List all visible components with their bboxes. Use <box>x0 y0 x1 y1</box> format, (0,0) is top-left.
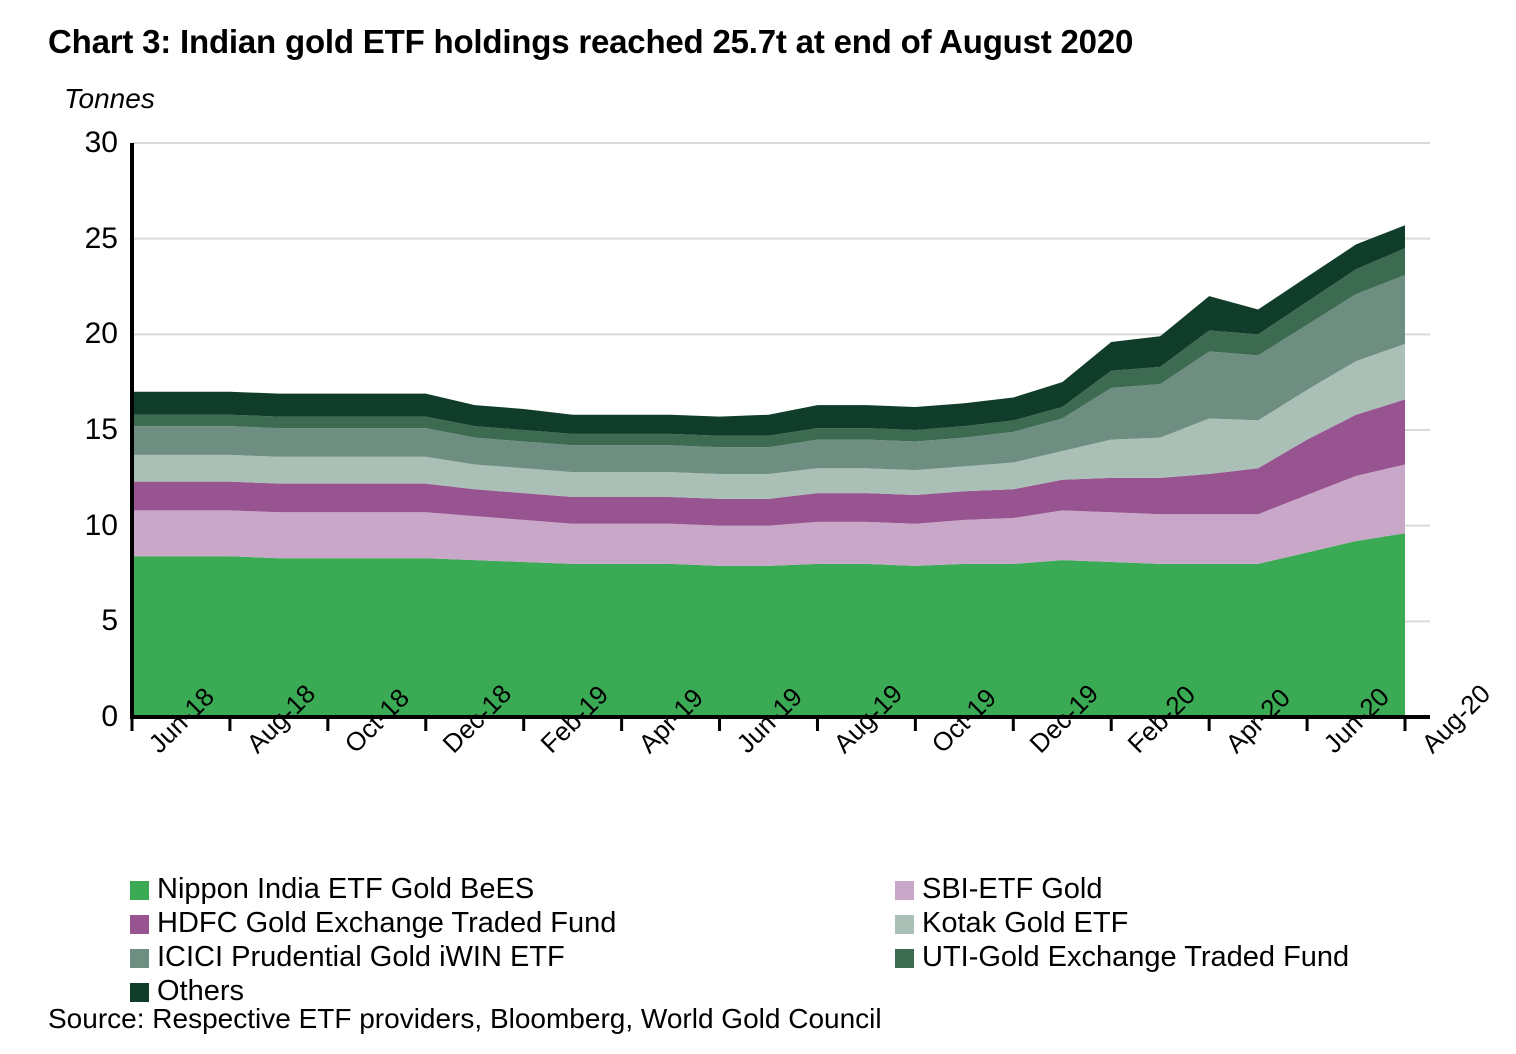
legend-item-label: UTI-Gold Exchange Traded Fund <box>922 942 1349 973</box>
legend-swatch-icon <box>130 949 149 968</box>
legend-item-label: Nippon India ETF Gold BeES <box>157 874 534 905</box>
chart-legend: Nippon India ETF Gold BeESSBI-ETF GoldHD… <box>130 872 1450 1008</box>
legend-item-label: Kotak Gold ETF <box>922 908 1128 939</box>
source-note: Source: Respective ETF providers, Bloomb… <box>48 1002 882 1036</box>
legend-item[interactable]: ICICI Prudential Gold iWIN ETF <box>130 940 895 974</box>
legend-row: Nippon India ETF Gold BeESSBI-ETF Gold <box>130 872 1450 906</box>
legend-item-label: SBI-ETF Gold <box>922 874 1103 905</box>
legend-swatch-icon <box>895 949 914 968</box>
legend-item[interactable]: UTI-Gold Exchange Traded Fund <box>895 940 1435 974</box>
legend-swatch-icon <box>130 983 149 1002</box>
y-axis-tick-label: 20 <box>38 319 118 349</box>
y-axis-tick-label: 30 <box>38 128 118 158</box>
chart-container: Chart 3: Indian gold ETF holdings reache… <box>0 0 1516 1054</box>
legend-item[interactable]: SBI-ETF Gold <box>895 872 1435 906</box>
y-axis-tick-label: 5 <box>38 606 118 636</box>
legend-item[interactable]: HDFC Gold Exchange Traded Fund <box>130 906 895 940</box>
legend-row: HDFC Gold Exchange Traded FundKotak Gold… <box>130 906 1450 940</box>
legend-item[interactable]: Kotak Gold ETF <box>895 906 1435 940</box>
legend-row: ICICI Prudential Gold iWIN ETFUTI-Gold E… <box>130 940 1450 974</box>
legend-swatch-icon <box>895 881 914 900</box>
legend-item[interactable]: Nippon India ETF Gold BeES <box>130 872 895 906</box>
legend-swatch-icon <box>130 881 149 900</box>
legend-item-label: HDFC Gold Exchange Traded Fund <box>157 908 616 939</box>
legend-item-label: ICICI Prudential Gold iWIN ETF <box>157 942 565 973</box>
y-axis-tick-label: 15 <box>38 415 118 445</box>
legend-swatch-icon <box>895 915 914 934</box>
legend-swatch-icon <box>130 915 149 934</box>
y-axis-tick-label: 25 <box>38 224 118 254</box>
y-axis-tick-label: 0 <box>38 702 118 732</box>
y-axis-tick-label: 10 <box>38 511 118 541</box>
legend-item-empty <box>895 974 1435 1008</box>
